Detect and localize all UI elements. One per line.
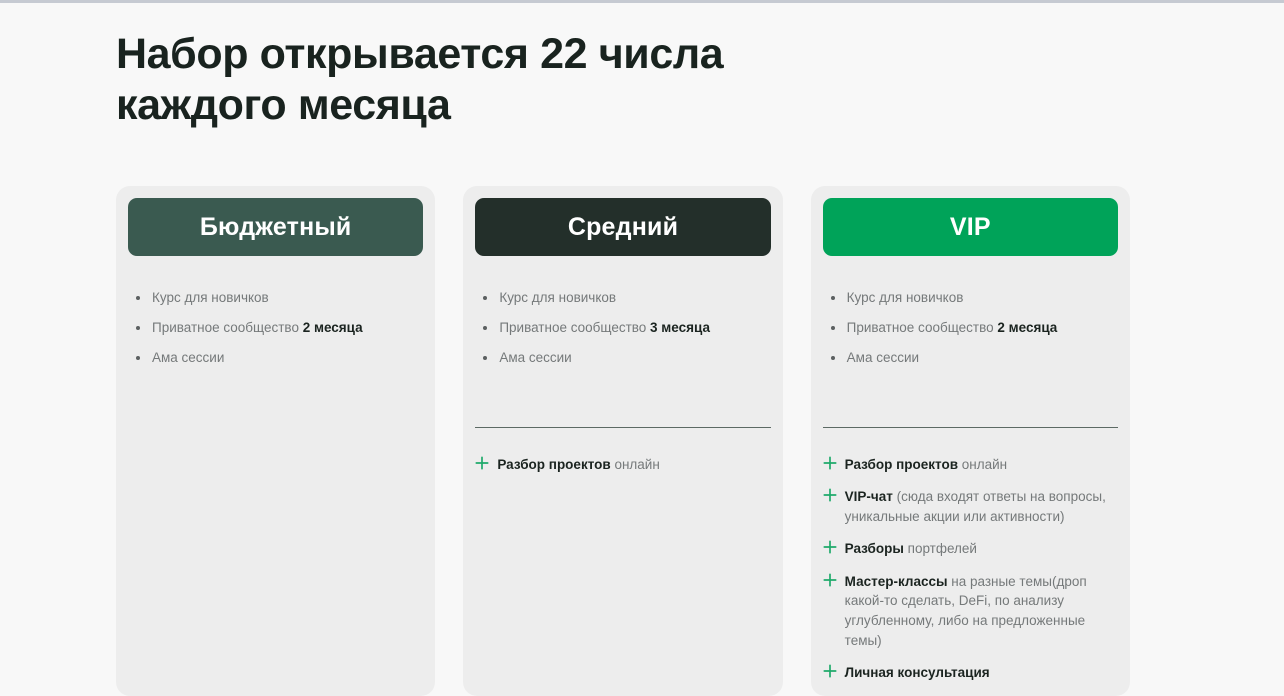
plus-feature-item: Разбор проектов онлайн (475, 455, 768, 475)
base-feature-list-medium: Курс для новичковПриватное сообщество 3 … (463, 256, 782, 368)
feature-text: Курс для новичков (847, 290, 964, 305)
feature-text: Ама сессии (499, 350, 571, 365)
base-feature-item: Ама сессии (481, 349, 764, 367)
plus-icon (823, 456, 837, 470)
feature-emphasis: Разбор проектов (497, 457, 610, 472)
page-title: Набор открывается 22 числа каждого месяц… (116, 29, 876, 130)
plus-feature-item: Разбор проектов онлайн (823, 455, 1116, 475)
feature-emphasis: 2 месяца (997, 320, 1057, 335)
plus-feature-item: VIP-чат (сюда входят ответы на вопросы, … (823, 487, 1116, 526)
plus-feature-list-medium: Разбор проектов онлайн (463, 428, 782, 475)
base-feature-item: Курс для новичков (481, 289, 764, 307)
plus-icon (823, 664, 837, 678)
plus-icon (823, 540, 837, 554)
plus-feature-item: Мастер-классы на разные темы(дроп какой-… (823, 572, 1116, 650)
feature-emphasis: 3 месяца (650, 320, 710, 335)
pricing-page: Набор открывается 22 числа каждого месяц… (0, 3, 1284, 642)
feature-emphasis: 2 месяца (303, 320, 363, 335)
feature-text: онлайн (958, 457, 1007, 472)
pricing-card-medium[interactable]: СреднийКурс для новичковПриватное сообще… (463, 186, 782, 696)
card-header-vip: VIP (823, 198, 1118, 256)
base-feature-item: Курс для новичков (134, 289, 417, 307)
feature-text: онлайн (611, 457, 660, 472)
feature-text: Ама сессии (847, 350, 919, 365)
card-title-budget: Бюджетный (200, 213, 352, 242)
feature-text: портфелей (904, 541, 977, 556)
card-title-medium: Средний (568, 213, 678, 242)
feature-text: Курс для новичков (499, 290, 616, 305)
feature-emphasis: Личная консультация (845, 665, 990, 680)
card-header-medium: Средний (475, 198, 770, 256)
feature-text: Приватное сообщество (847, 320, 998, 335)
card-title-vip: VIP (950, 213, 991, 242)
base-feature-item: Приватное сообщество 3 месяца (481, 319, 764, 337)
list-spacer (463, 380, 782, 427)
base-feature-item: Ама сессии (829, 349, 1112, 367)
base-feature-list-vip: Курс для новичковПриватное сообщество 2 … (811, 256, 1130, 368)
card-header-budget: Бюджетный (128, 198, 423, 256)
feature-emphasis: Разборы (845, 541, 904, 556)
plus-feature-list-vip: Разбор проектов онлайнVIP-чат (сюда вход… (811, 428, 1130, 683)
plus-feature-item: Разборы портфелей (823, 539, 1116, 559)
pricing-cards-row: БюджетныйКурс для новичковПриватное сооб… (116, 186, 1130, 696)
base-feature-item: Приватное сообщество 2 месяца (134, 319, 417, 337)
feature-text: Приватное сообщество (152, 320, 303, 335)
plus-feature-item: Личная консультация (823, 663, 1116, 683)
plus-icon (823, 573, 837, 587)
feature-text: Ама сессии (152, 350, 224, 365)
base-feature-item: Курс для новичков (829, 289, 1112, 307)
list-spacer (811, 380, 1130, 427)
feature-emphasis: VIP-чат (845, 489, 893, 504)
pricing-card-budget[interactable]: БюджетныйКурс для новичковПриватное сооб… (116, 186, 435, 696)
base-feature-item: Приватное сообщество 2 месяца (829, 319, 1112, 337)
feature-emphasis: Мастер-классы (845, 574, 948, 589)
feature-text: Приватное сообщество (499, 320, 650, 335)
feature-emphasis: Разбор проектов (845, 457, 958, 472)
pricing-card-vip[interactable]: VIPКурс для новичковПриватное сообщество… (811, 186, 1130, 696)
feature-text: Курс для новичков (152, 290, 269, 305)
plus-icon (823, 488, 837, 502)
base-feature-list-budget: Курс для новичковПриватное сообщество 2 … (116, 256, 435, 368)
plus-icon (475, 456, 489, 470)
base-feature-item: Ама сессии (134, 349, 417, 367)
